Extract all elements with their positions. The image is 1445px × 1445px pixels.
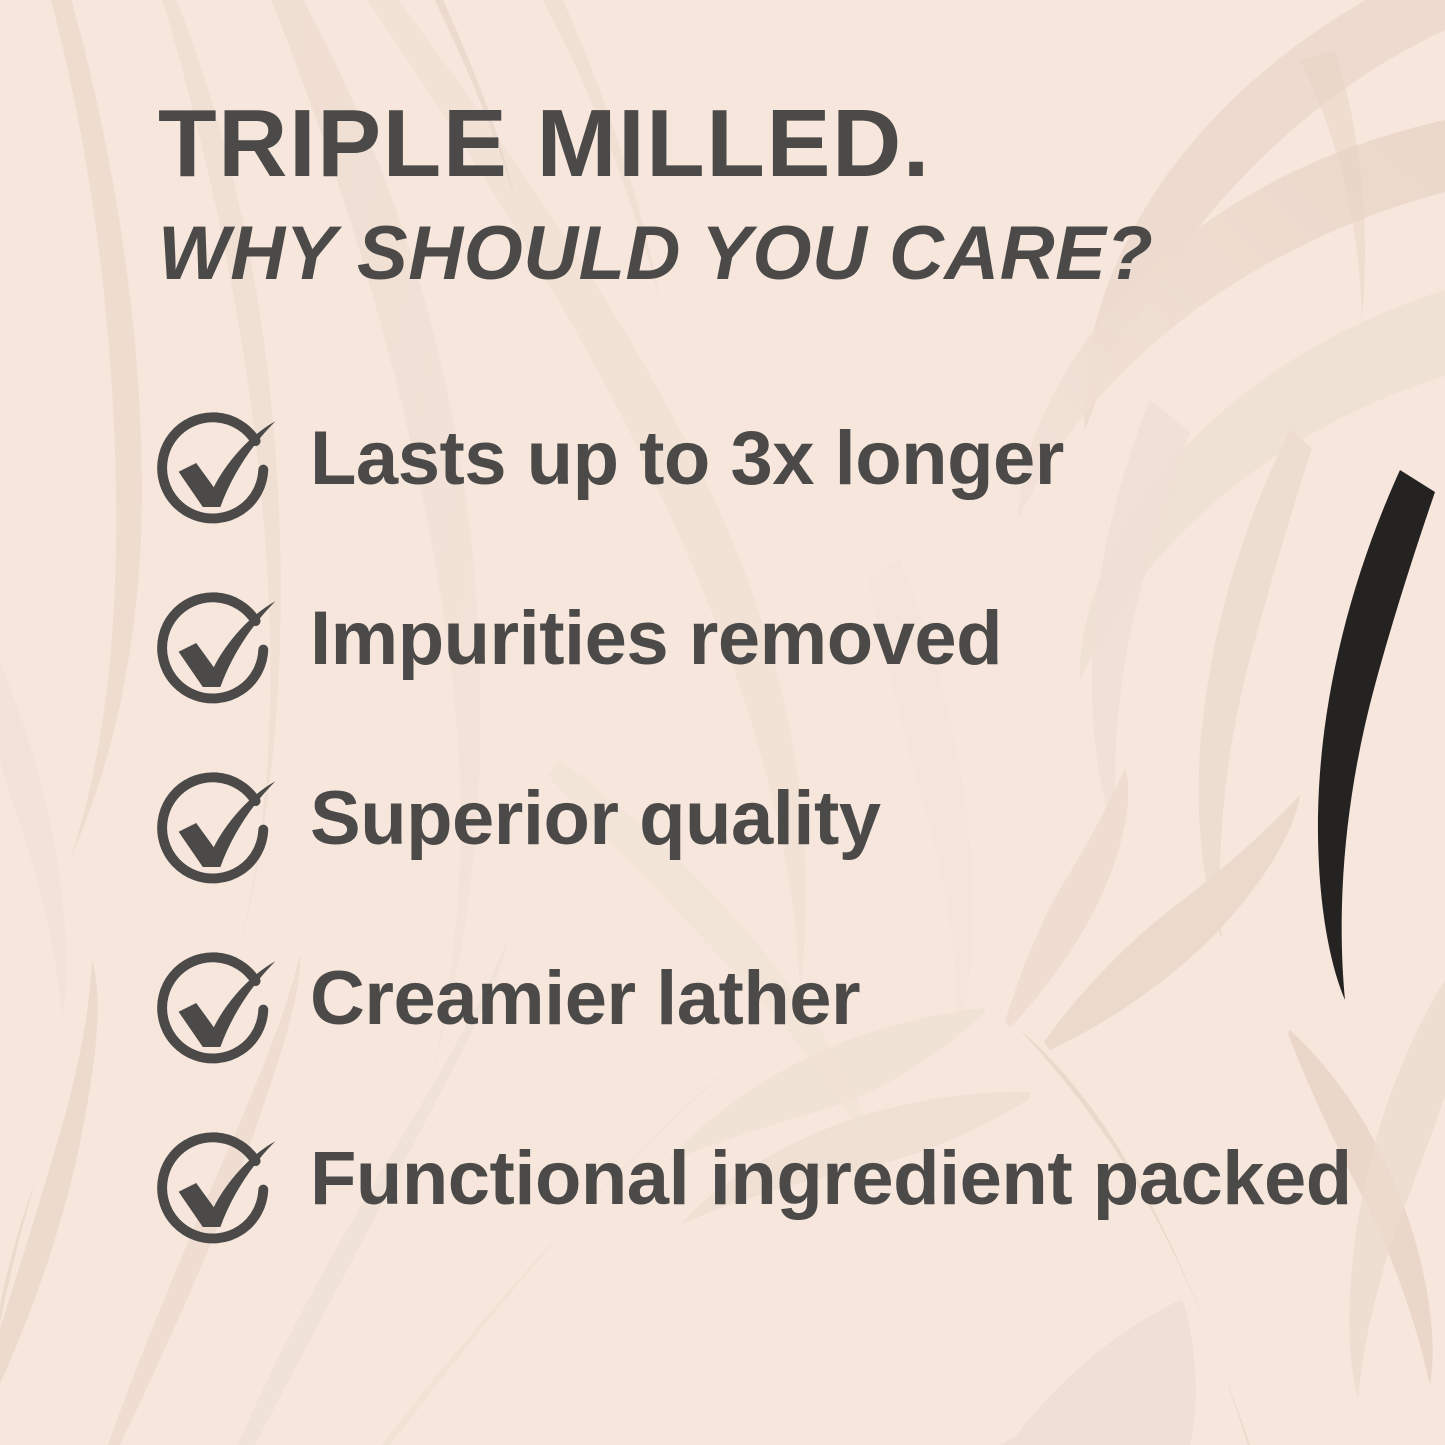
page-subtitle: WHY SHOULD YOU CARE? xyxy=(158,192,1338,292)
benefit-label: Superior quality xyxy=(310,764,1370,860)
check-circle-icon xyxy=(150,768,282,900)
list-item: Lasts up to 3x longer xyxy=(150,404,1370,584)
promo-poster: TRIPLE MILLED. WHY SHOULD YOU CARE? Last… xyxy=(0,0,1445,1445)
check-circle-icon xyxy=(150,948,282,1080)
list-item: Functional ingredient packed xyxy=(150,1124,1370,1384)
poster-content: TRIPLE MILLED. WHY SHOULD YOU CARE? Last… xyxy=(0,0,1445,1445)
check-circle-icon xyxy=(150,588,282,720)
list-item: Impurities removed xyxy=(150,584,1370,764)
benefits-list: Lasts up to 3x longer Impurities removed xyxy=(150,404,1370,1384)
benefit-label: Creamier lather xyxy=(310,944,1370,1040)
list-item: Creamier lather xyxy=(150,944,1370,1124)
benefit-label: Functional ingredient packed xyxy=(310,1124,1370,1220)
check-circle-icon xyxy=(150,408,282,540)
list-item: Superior quality xyxy=(150,764,1370,944)
check-circle-icon xyxy=(150,1128,282,1260)
benefit-label: Impurities removed xyxy=(310,584,1370,680)
headline-block: TRIPLE MILLED. WHY SHOULD YOU CARE? xyxy=(158,96,1338,292)
benefit-label: Lasts up to 3x longer xyxy=(310,404,1370,500)
page-title: TRIPLE MILLED. xyxy=(158,96,1338,192)
